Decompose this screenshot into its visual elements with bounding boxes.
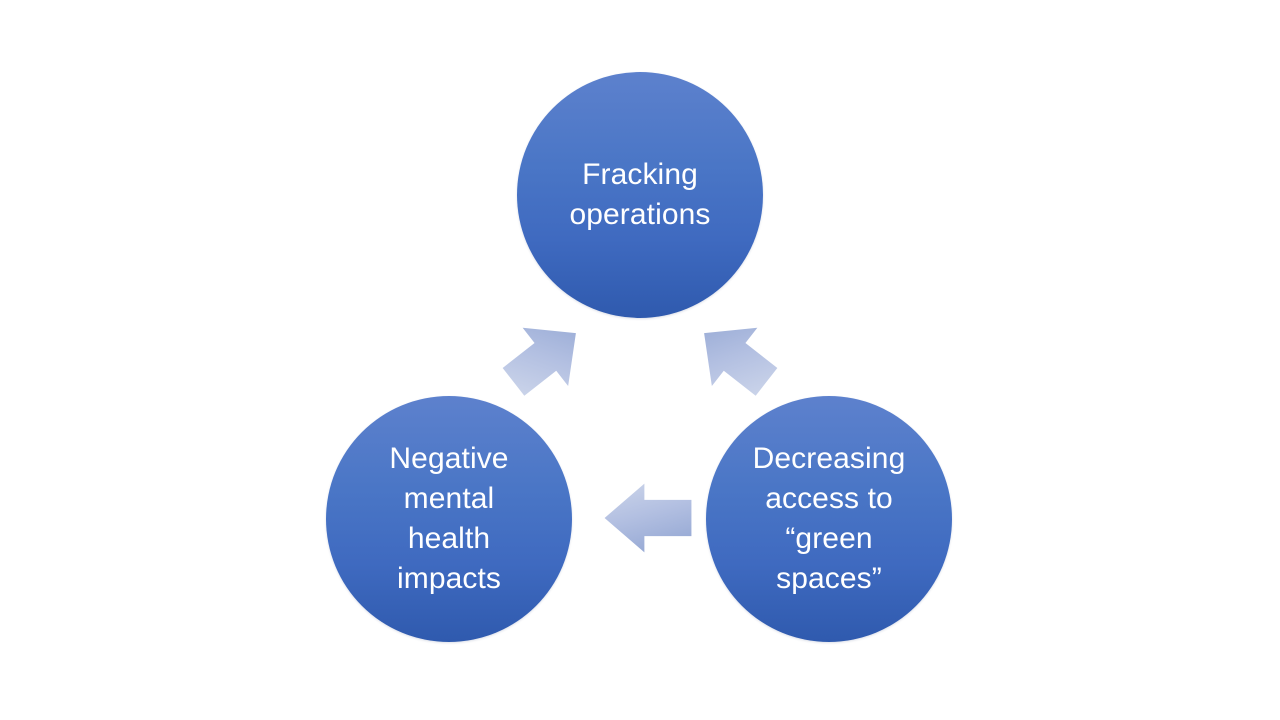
arrow-west-icon <box>602 480 694 556</box>
node-decreasing-green-spaces-label: Decreasing access to “green spaces” <box>741 439 918 599</box>
node-negative-mental-health-impacts-label: Negative mental health impacts <box>377 439 520 599</box>
arrow-southwest-icon <box>496 314 592 402</box>
node-fracking-operations[interactable]: Fracking operations <box>517 72 763 318</box>
arrow-southeast-icon <box>688 314 784 402</box>
node-fracking-operations-label: Fracking operations <box>557 155 722 235</box>
diagram-canvas: Fracking operations Negative mental heal… <box>0 0 1280 720</box>
node-negative-mental-health-impacts[interactable]: Negative mental health impacts <box>326 396 572 642</box>
node-decreasing-green-spaces[interactable]: Decreasing access to “green spaces” <box>706 396 952 642</box>
